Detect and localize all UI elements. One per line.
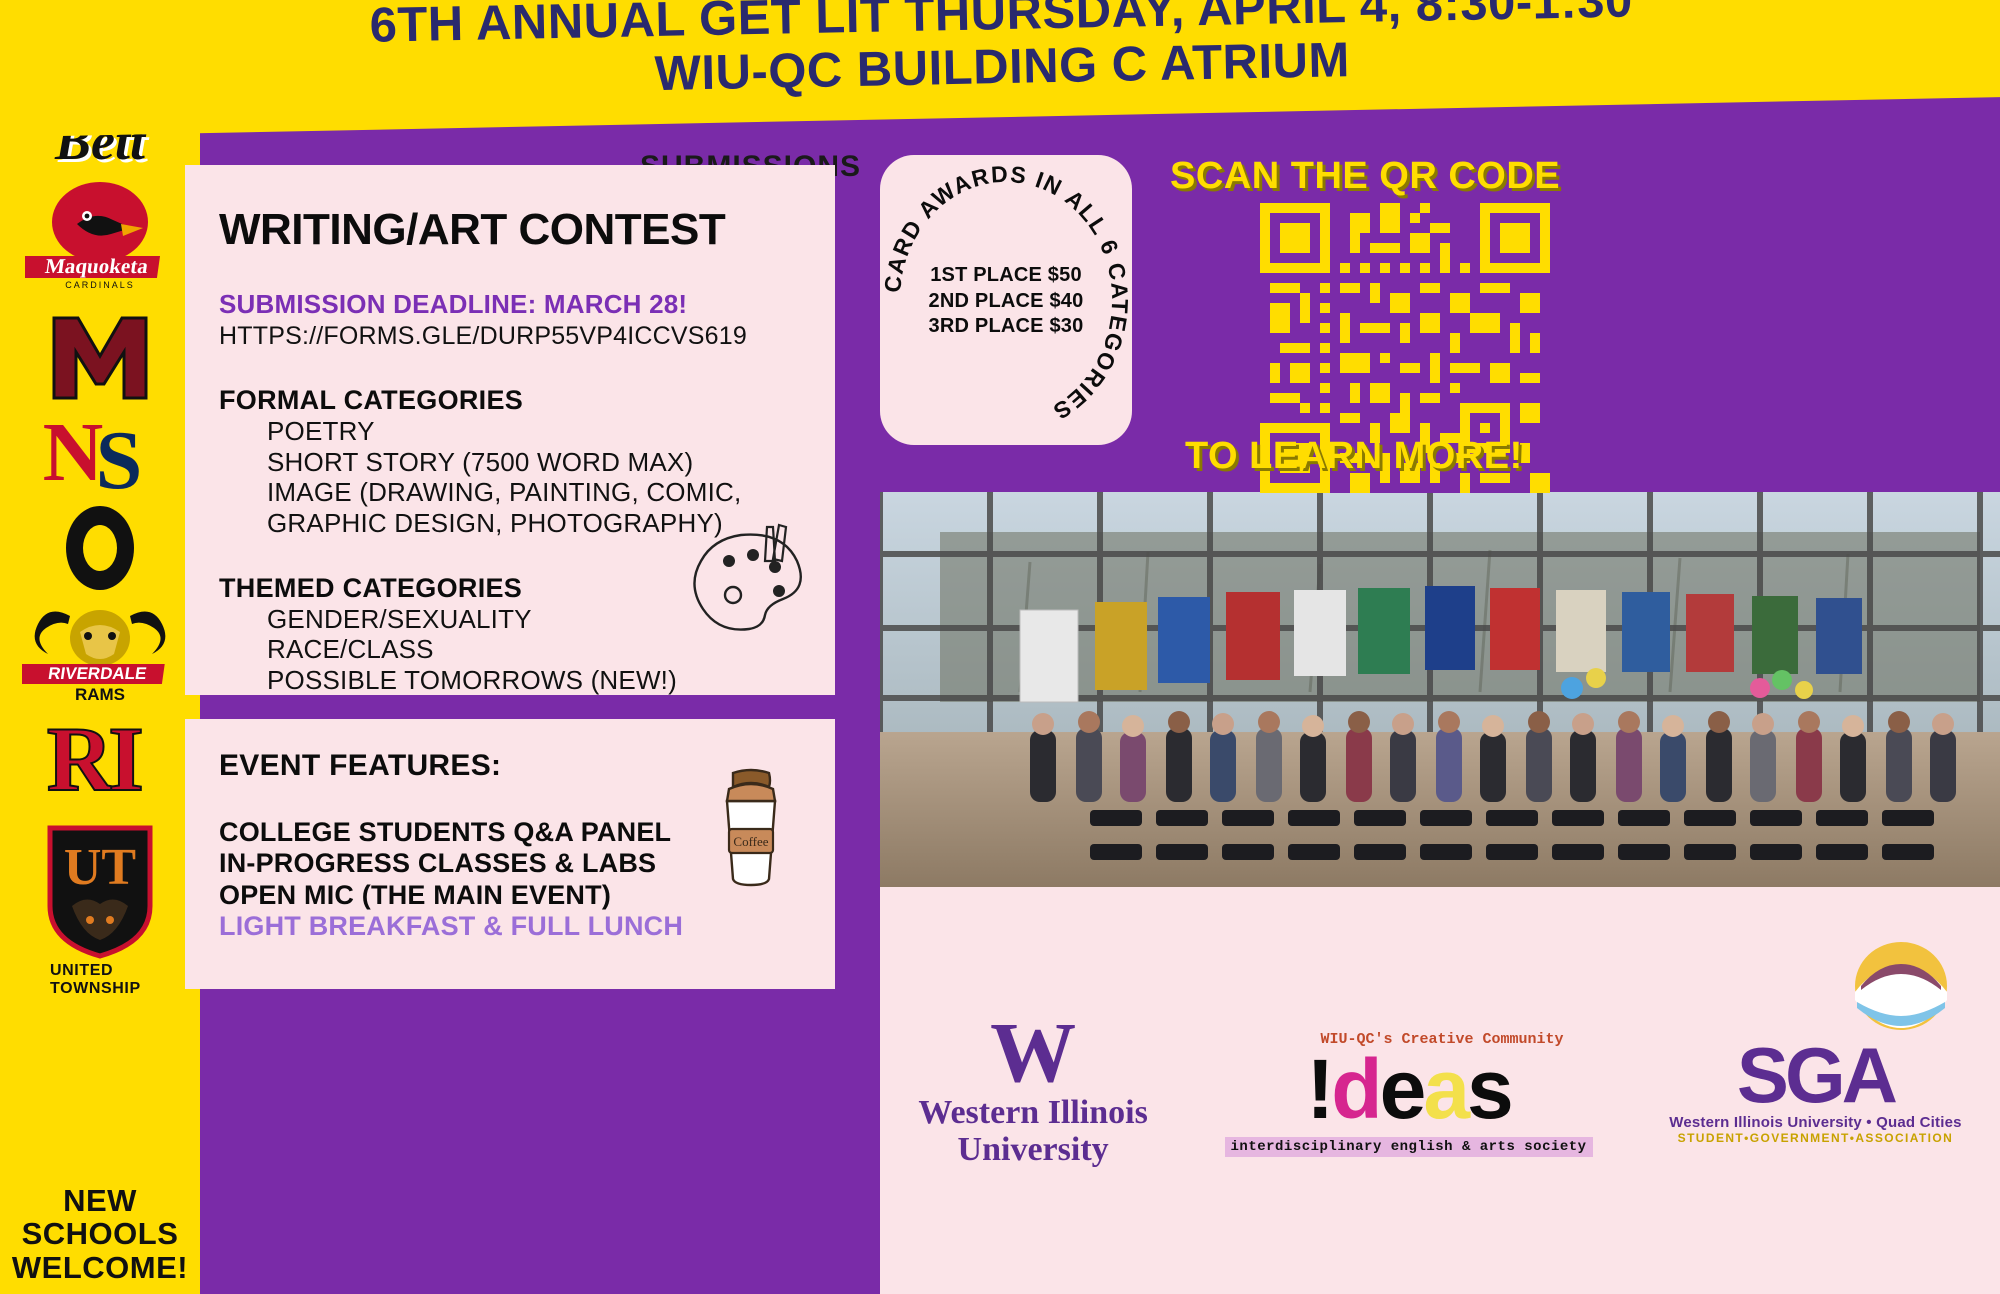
atrium-crowd-photo: [880, 492, 2000, 887]
submission-form-url[interactable]: HTTPS://FORMS.GLE/DURP55VP4ICCVS619: [219, 322, 805, 351]
svg-text:UT: UT: [64, 839, 136, 896]
header-banner-text: 6TH ANNUAL GET LIT THURSDAY, APRIL 4, 8:…: [1, 0, 2000, 115]
event-feature-highlight: LIGHT BREAKFAST & FULL LUNCH: [219, 911, 805, 942]
formal-category-item: POETRY: [219, 416, 805, 447]
svg-text:S: S: [96, 414, 143, 500]
footer-line-1: NEW: [0, 1184, 200, 1217]
sga-emblem-icon: [1839, 940, 1963, 1053]
awards-prize-item: 3RD PLACE $30: [880, 314, 1132, 340]
svg-text:RIVERDALE: RIVERDALE: [47, 664, 148, 683]
ideas-logo: WIU-QC's Creative Community !deas interd…: [1225, 1025, 1593, 1157]
footer-line-2: SCHOOLS: [0, 1217, 200, 1250]
sponsor-logo-maquoketa: Maquoketa CARDINALS: [25, 178, 175, 294]
ut-caption-text: UNITED TOWNSHIP: [50, 962, 150, 998]
ideas-letter-e: e: [1380, 1042, 1424, 1136]
svg-text:RAMS: RAMS: [75, 685, 125, 704]
wiu-logo-line-2: University: [918, 1131, 1148, 1168]
sponsor-logo-united-township: UT: [38, 820, 162, 962]
united-township-caption: UNITED TOWNSHIP: [50, 962, 150, 998]
poster-root: Bett Maquoketa CARDINALS: [0, 0, 2000, 1294]
awards-prize-item: 2ND PLACE $40: [880, 289, 1132, 315]
svg-text:CARDINALS: CARDINALS: [65, 280, 135, 290]
writing-art-contest-card: WRITING/ART CONTEST SUBMISSION DEADLINE:…: [185, 165, 835, 695]
event-features-card: EVENT FEATURES: COLLEGE STUDENTS Q&A PAN…: [185, 719, 835, 989]
sga-line-1: Western Illinois University • Quad Citie…: [1669, 1114, 1961, 1131]
new-schools-welcome-note: NEW SCHOOLS WELCOME!: [0, 1184, 200, 1284]
awards-prize-list: 1ST PLACE $50 2ND PLACE $40 3RD PLACE $3…: [880, 263, 1132, 340]
formal-category-item: IMAGE (DRAWING, PAINTING, COMIC,: [219, 477, 805, 508]
sga-logo: SGA Western Illinois University • Quad C…: [1669, 1036, 1961, 1145]
themed-category-item: POSSIBLE TOMORROWS (NEW!): [219, 665, 805, 696]
coffee-cup-label: Coffee: [733, 834, 768, 849]
svg-text:R: R: [47, 712, 115, 810]
formal-categories-group: FORMAL CATEGORIES POETRY SHORT STORY (75…: [219, 385, 805, 539]
svg-text:I: I: [108, 712, 144, 810]
coffee-cup-icon: Coffee: [705, 767, 797, 894]
sponsor-logo-list: Bett Maquoketa CARDINALS: [0, 0, 200, 1294]
sponsor-logo-strip: W Western Illinois University WIU-QC's C…: [880, 887, 2000, 1294]
svg-text:N: N: [43, 408, 104, 499]
awards-card: GIFT CARD AWARDS IN ALL 6 CATEGORIES 1ST…: [880, 155, 1132, 445]
ideas-letter-d: d: [1331, 1042, 1379, 1136]
sponsor-logo-orion: [45, 500, 155, 596]
sponsor-logo-riverdale: RIVERDALE RAMS: [22, 598, 178, 706]
scan-qr-title: SCAN THE QR CODE: [1170, 155, 1560, 198]
footer-line-3: WELCOME!: [0, 1251, 200, 1284]
header-banner: 6TH ANNUAL GET LIT THURSDAY, APRIL 4, 8:…: [0, 0, 2000, 138]
wiu-logo: W Western Illinois University: [918, 1012, 1148, 1168]
contest-title: WRITING/ART CONTEST: [219, 205, 805, 255]
left-content-column: WRITING/ART CONTEST SUBMISSION DEADLINE:…: [185, 165, 845, 989]
ideas-subtitle: interdisciplinary english & arts society: [1225, 1137, 1593, 1157]
ideas-letter-a: a: [1423, 1042, 1467, 1136]
art-palette-icon: [683, 521, 811, 644]
wiu-logo-line-1: Western Illinois: [918, 1094, 1148, 1131]
scan-qr-subtitle: TO LEARN MORE!: [1185, 435, 1523, 478]
sga-line-2: STUDENT•GOVERNMENT•ASSOCIATION: [1669, 1131, 1961, 1145]
sponsor-logo-moline: [44, 310, 156, 406]
wiu-logo-mark: W: [918, 1012, 1148, 1094]
formal-category-item: SHORT STORY (7500 WORD MAX): [219, 447, 805, 478]
sponsor-logo-rock-island: R I: [36, 712, 164, 810]
svg-text:Maquoketa: Maquoketa: [44, 254, 150, 278]
submission-deadline: SUBMISSION DEADLINE: MARCH 28!: [219, 289, 805, 320]
awards-prize-item: 1ST PLACE $50: [880, 263, 1132, 289]
ideas-letter-s: s: [1467, 1042, 1511, 1136]
formal-categories-heading: FORMAL CATEGORIES: [219, 385, 805, 416]
sponsor-logo-north-scott: N S: [35, 408, 165, 500]
ideas-wordmark: !deas: [1306, 1047, 1510, 1131]
sponsor-school-rail: Bett Maquoketa CARDINALS: [0, 0, 200, 1294]
ideas-exclaim: !: [1306, 1042, 1331, 1136]
